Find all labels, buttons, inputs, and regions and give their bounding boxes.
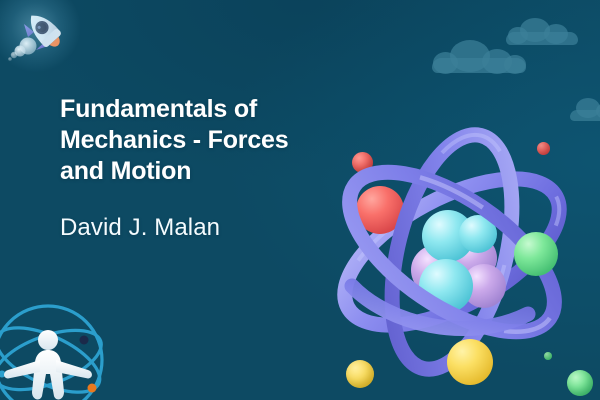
author-name: David J. Malan: [60, 213, 330, 243]
electron-green: [514, 232, 558, 276]
cloud-edge-right: [570, 98, 600, 120]
electron-yellow: [447, 339, 493, 385]
atom-illustration: [318, 118, 586, 386]
vitruvian-bead-dark: [80, 336, 89, 345]
presentation-slide: Fundamentals of Mechanics - Forces and M…: [0, 0, 600, 400]
rocket-icon: [4, 2, 80, 64]
title-block: Fundamentals of Mechanics - Forces and M…: [60, 94, 330, 243]
cloud-large: [432, 40, 526, 72]
rocket-glow: [0, 0, 82, 72]
page-title: Fundamentals of Mechanics - Forces and M…: [60, 94, 330, 187]
vitruvian-atom-figure: [0, 300, 136, 400]
vitruvian-bead-orange: [88, 384, 97, 393]
